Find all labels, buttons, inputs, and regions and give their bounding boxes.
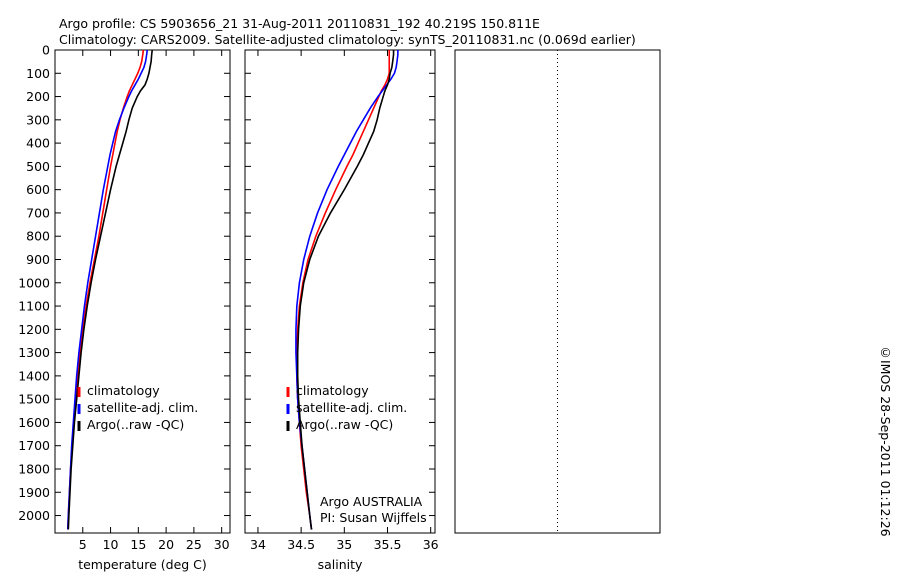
y-tick-label: 0 <box>42 43 50 58</box>
y-tick-label: 1900 <box>18 485 50 500</box>
program-annotation: Argo AUSTRALIA <box>320 494 423 509</box>
profile-curve <box>298 50 394 530</box>
legend-label: satellite-adj. clim. <box>87 400 198 415</box>
x-axis-label: salinity <box>318 557 363 572</box>
y-tick-label: 1400 <box>18 368 50 383</box>
sst-map-panel <box>660 10 900 290</box>
y-tick-label: 400 <box>26 136 50 151</box>
x-tick-label: 34 <box>250 537 266 552</box>
y-tick-label: 2000 <box>18 508 50 523</box>
y-tick-label: 700 <box>26 205 50 220</box>
imos-credit: ©IMOS 28-Sep-2011 01:12:26 <box>878 345 893 537</box>
sla-map-panel <box>660 290 900 570</box>
y-tick-label: 200 <box>26 89 50 104</box>
x-tick-label: 34.5 <box>287 537 315 552</box>
x-tick-label: 10 <box>103 537 119 552</box>
x-tick-label: 5 <box>79 537 87 552</box>
figure-title-line-1: Argo profile: CS 5903656_21 31-Aug-2011 … <box>59 16 540 31</box>
y-tick-label: 900 <box>26 252 50 267</box>
x-tick-label: 35.5 <box>374 537 402 552</box>
y-tick-label: 1700 <box>18 438 50 453</box>
legend-label: Argo(..raw -QC) <box>296 417 393 432</box>
profile-curve <box>68 50 152 530</box>
difference-panel <box>410 40 670 580</box>
legend-label: Argo(..raw -QC) <box>87 417 184 432</box>
x-tick-label: 15 <box>130 537 146 552</box>
profile-curve <box>296 50 398 530</box>
y-tick-label: 300 <box>26 112 50 127</box>
y-tick-label: 1100 <box>18 299 50 314</box>
legend-label: climatology <box>296 383 369 398</box>
profile-curve <box>68 50 144 530</box>
y-tick-label: 500 <box>26 159 50 174</box>
y-tick-label: 1800 <box>18 461 50 476</box>
figure-canvas: Argo profile: CS 5903656_21 31-Aug-2011 … <box>0 0 900 580</box>
y-tick-label: 1500 <box>18 392 50 407</box>
x-tick-label: 20 <box>158 537 174 552</box>
y-tick-label: 600 <box>26 182 50 197</box>
y-tick-label: 1600 <box>18 415 50 430</box>
profile-curve <box>68 50 147 530</box>
y-tick-label: 1200 <box>18 322 50 337</box>
x-tick-label: 35 <box>336 537 352 552</box>
x-axis-label: temperature (deg C) <box>78 557 207 572</box>
y-tick-label: 800 <box>26 229 50 244</box>
legend-label: climatology <box>87 383 160 398</box>
y-tick-label: 1000 <box>18 275 50 290</box>
y-tick-label: 1300 <box>18 345 50 360</box>
legend-label: satellite-adj. clim. <box>296 400 407 415</box>
profile-curve <box>297 50 389 530</box>
plot-frame <box>245 50 435 533</box>
y-tick-label: 100 <box>26 66 50 81</box>
